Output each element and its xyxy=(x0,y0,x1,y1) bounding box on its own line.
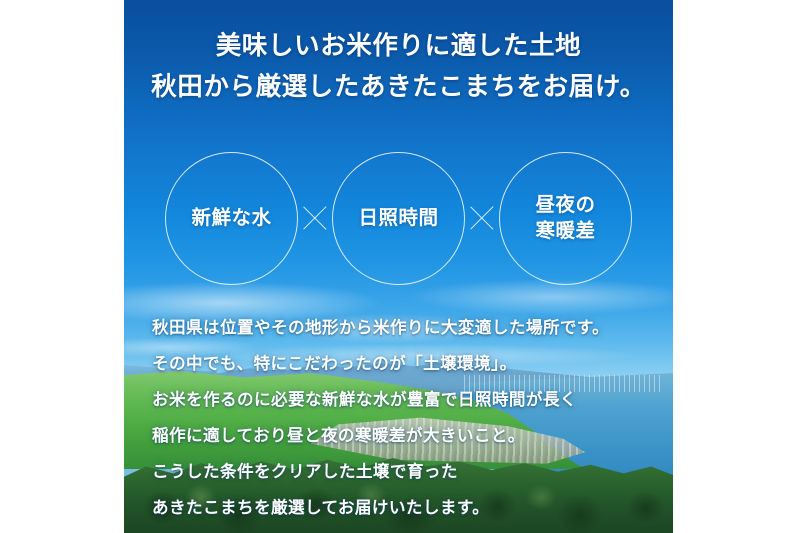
headline: 美味しいお米作りに適した土地 秋田から厳選したあきたこまちをお届け。 xyxy=(124,26,673,109)
factor-label-line-1: 日照時間 xyxy=(358,205,438,231)
body-copy-line: こうした条件をクリアした土壌で育った xyxy=(152,454,673,490)
factor-circle-label: 日照時間 xyxy=(358,205,438,231)
body-copy-line: 秋田県は位置やその地形から米作りに大変適した場所です。 xyxy=(152,310,673,346)
multiply-icon-1 xyxy=(293,196,337,240)
factor-circle-day-night-temp-gap: 昼夜の 寒暖差 xyxy=(499,152,632,285)
screenshot-canvas: 美味しいお米作りに適した土地 秋田から厳選したあきたこまちをお届け。 新鮮な水 … xyxy=(0,0,800,533)
poster-content: 美味しいお米作りに適した土地 秋田から厳選したあきたこまちをお届け。 新鮮な水 … xyxy=(124,0,673,533)
factor-label-line-1: 新鮮な水 xyxy=(191,205,271,231)
factor-label-line-1: 昼夜の xyxy=(535,192,595,218)
headline-line-1: 美味しいお米作りに適した土地 xyxy=(124,26,673,67)
factor-circle-sunshine-hours: 日照時間 xyxy=(332,152,465,285)
body-copy-line: お米を作るのに必要な新鮮な水が豊富で日照時間が長く xyxy=(152,382,673,418)
headline-line-2: 秋田から厳選したあきたこまちをお届け。 xyxy=(124,67,673,108)
multiply-icon-2 xyxy=(460,196,504,240)
factor-circle-fresh-water: 新鮮な水 xyxy=(165,152,298,285)
body-copy: 秋田県は位置やその地形から米作りに大変適した場所です。 その中でも、特にこだわっ… xyxy=(124,310,673,526)
body-copy-line: あきたこまちを厳選してお届けいたします。 xyxy=(152,490,673,526)
akitakomachi-promo-image: 美味しいお米作りに適した土地 秋田から厳選したあきたこまちをお届け。 新鮮な水 … xyxy=(124,0,673,533)
factor-circle-label: 新鮮な水 xyxy=(191,205,271,231)
factor-label-line-2: 寒暖差 xyxy=(535,218,595,244)
factor-circles-row: 新鮮な水 日照時間 昼夜の 寒暖差 xyxy=(124,148,673,288)
body-copy-line: 稲作に適しており昼と夜の寒暖差が大きいこと。 xyxy=(152,418,673,454)
factor-circle-label: 昼夜の 寒暖差 xyxy=(535,192,595,244)
body-copy-line: その中でも、特にこだわったのが「土壌環境」。 xyxy=(152,346,673,382)
